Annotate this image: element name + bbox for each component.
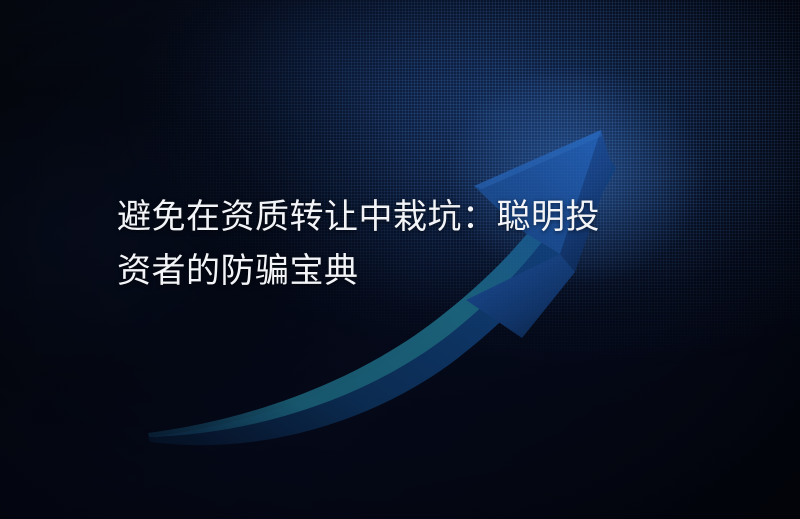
page-title-line-1: 避免在资质转让中栽坑：聪明投 (117, 190, 707, 244)
banner-image: 避免在资质转让中栽坑：聪明投 资者的防骗宝典 (0, 0, 800, 519)
page-title: 避免在资质转让中栽坑：聪明投 资者的防骗宝典 (117, 190, 707, 298)
page-title-line-2: 资者的防骗宝典 (117, 244, 707, 298)
